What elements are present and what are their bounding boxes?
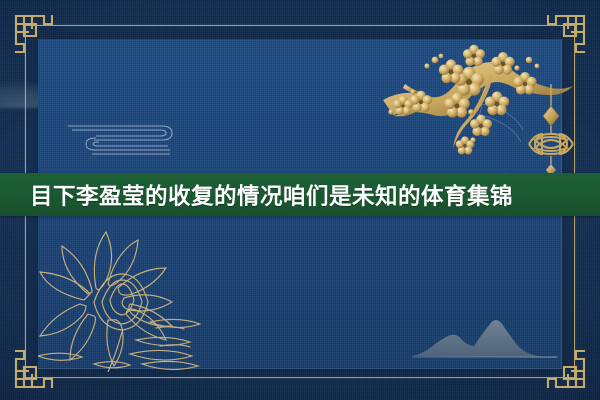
caption-text: 目下李盈莹的收复的情况咱们是未知的体育集锦 <box>30 173 513 216</box>
cloud-scroll-icon <box>66 112 184 166</box>
lotus-flower-icon <box>38 222 218 372</box>
corner-fret-icon <box>14 14 60 60</box>
mountain-silhouette-icon <box>410 306 560 364</box>
plum-blossom-branch-icon <box>361 22 576 182</box>
decorative-banner-image: 目下李盈莹的收复的情况咱们是未知的体育集锦 <box>0 0 600 400</box>
